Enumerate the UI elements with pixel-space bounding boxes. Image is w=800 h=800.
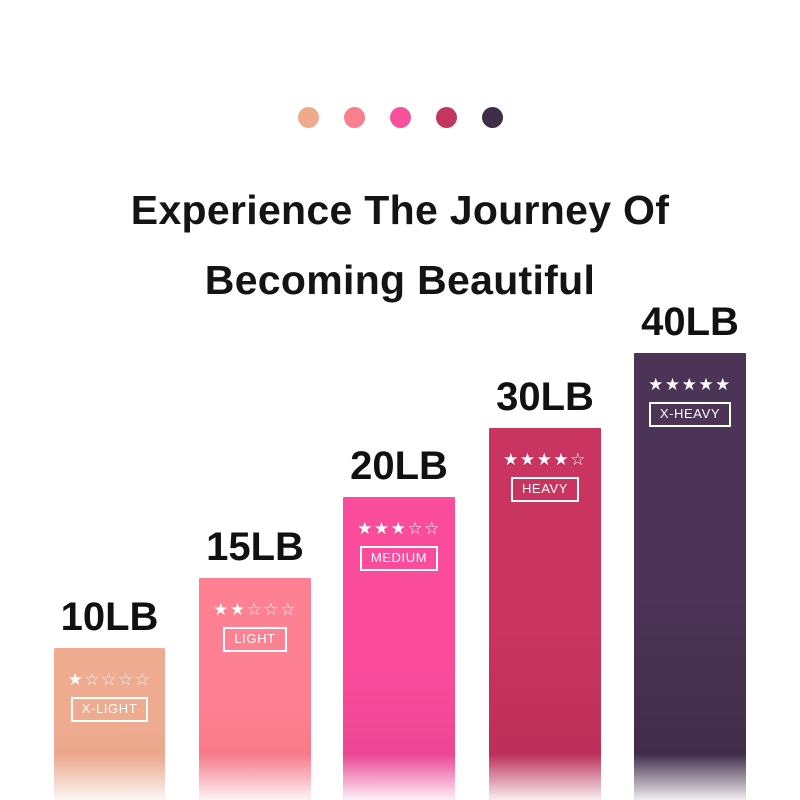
bar-value-label-20lb: 20LB	[323, 445, 475, 487]
bar-bottom-fade	[54, 754, 165, 800]
bar-badge-40lb: ★★★★★X-HEAVY	[634, 375, 746, 427]
bar-20lb[interactable]: ★★★☆☆MEDIUM	[343, 497, 455, 800]
bar-badge-30lb: ★★★★☆HEAVY	[489, 450, 601, 502]
star-rating-icon: ★★★☆☆	[343, 519, 455, 539]
bar-value-label-30lb: 30LB	[469, 376, 621, 418]
bar-bottom-fade	[489, 754, 601, 800]
resistance-bar-chart: ★☆☆☆☆X-LIGHT10LB★★☆☆☆LIGHT15LB★★★☆☆MEDIU…	[0, 0, 800, 800]
resistance-level-tag: MEDIUM	[360, 546, 438, 571]
bar-group-10lb[interactable]: ★☆☆☆☆X-LIGHT10LB	[54, 648, 165, 800]
bar-30lb[interactable]: ★★★★☆HEAVY	[489, 428, 601, 800]
resistance-level-tag: X-LIGHT	[71, 697, 148, 722]
bar-group-40lb[interactable]: ★★★★★X-HEAVY40LB	[634, 353, 746, 800]
bar-badge-10lb: ★☆☆☆☆X-LIGHT	[54, 670, 165, 722]
bar-group-30lb[interactable]: ★★★★☆HEAVY30LB	[489, 428, 601, 800]
resistance-level-tag: HEAVY	[511, 477, 579, 502]
bar-value-label-40lb: 40LB	[614, 301, 766, 343]
bar-bottom-fade	[634, 754, 746, 800]
bar-15lb[interactable]: ★★☆☆☆LIGHT	[199, 578, 311, 800]
star-rating-icon: ★★★★★	[634, 375, 746, 395]
resistance-level-tag: LIGHT	[223, 627, 286, 652]
bar-group-15lb[interactable]: ★★☆☆☆LIGHT15LB	[199, 578, 311, 800]
star-rating-icon: ★★☆☆☆	[199, 600, 311, 620]
bar-value-label-10lb: 10LB	[34, 596, 185, 638]
bar-value-label-15lb: 15LB	[179, 526, 331, 568]
bar-bottom-fade	[343, 754, 455, 800]
bar-badge-20lb: ★★★☆☆MEDIUM	[343, 519, 455, 571]
star-rating-icon: ★★★★☆	[489, 450, 601, 470]
bar-bottom-fade	[199, 754, 311, 800]
resistance-level-tag: X-HEAVY	[649, 402, 731, 427]
bar-badge-15lb: ★★☆☆☆LIGHT	[199, 600, 311, 652]
star-rating-icon: ★☆☆☆☆	[54, 670, 165, 690]
bar-10lb[interactable]: ★☆☆☆☆X-LIGHT	[54, 648, 165, 800]
product-infographic: Experience The Journey Of Becoming Beaut…	[0, 0, 800, 800]
bar-40lb[interactable]: ★★★★★X-HEAVY	[634, 353, 746, 800]
bar-group-20lb[interactable]: ★★★☆☆MEDIUM20LB	[343, 497, 455, 800]
